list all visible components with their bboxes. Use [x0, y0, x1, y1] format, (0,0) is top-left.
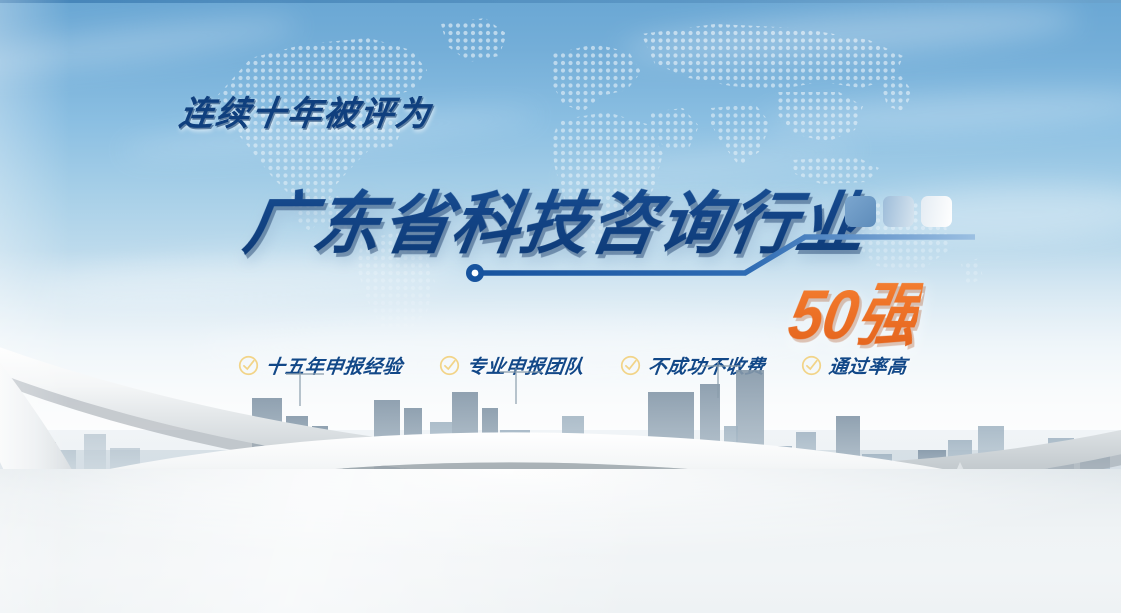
- architecture-scene: [0, 330, 1121, 613]
- promo-banner: 连续十年被评为 广东省科技咨询行业 50强 十五年申报经验: [0, 0, 1121, 613]
- top-edge-line: [0, 0, 1121, 3]
- reflective-floor: [0, 469, 1121, 613]
- page-kicker: 连续十年被评为: [177, 86, 436, 135]
